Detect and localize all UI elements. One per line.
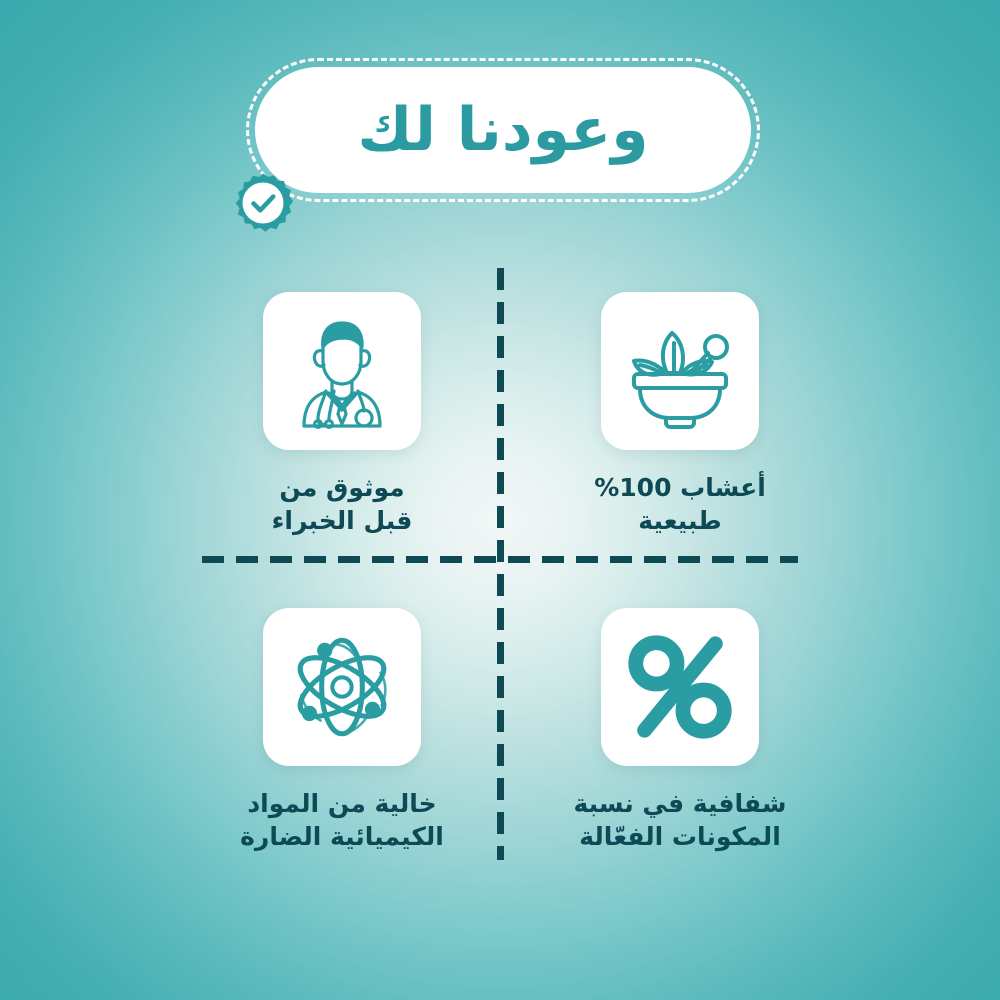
feature-trusted-by-experts: موثوق من قبل الخبراء [222, 292, 462, 537]
feature-natural-herbs: أعشاب 100% طبيعية [560, 292, 800, 537]
feature-label: موثوق من قبل الخبراء [222, 472, 462, 537]
feature-label-line2: قبل الخبراء [222, 505, 462, 538]
mortar-pestle-herbs-icon [620, 311, 740, 431]
percent-icon [621, 628, 739, 746]
feature-active-ingredient-transparency: شفافية في نسبة المكونات الفعّالة [560, 608, 800, 853]
feature-label-line1: خالية من المواد [222, 788, 462, 821]
icon-card [601, 608, 759, 766]
feature-label-line2: الكيميائية الضارة [222, 821, 462, 854]
feature-grid: موثوق من قبل الخبراء [0, 0, 1000, 1000]
feature-label: أعشاب 100% طبيعية [560, 472, 800, 537]
icon-card [263, 608, 421, 766]
feature-label-line1: موثوق من [222, 472, 462, 505]
atom-icon [281, 626, 403, 748]
promise-poster: وعودنا لك [0, 0, 1000, 1000]
feature-label-line1: شفافية في نسبة [560, 788, 800, 821]
feature-label: خالية من المواد الكيميائية الضارة [222, 788, 462, 853]
feature-label-line1: أعشاب 100% [560, 472, 800, 505]
feature-no-harmful-chemicals: خالية من المواد الكيميائية الضارة [222, 608, 462, 853]
icon-card [263, 292, 421, 450]
doctor-icon [282, 311, 402, 431]
icon-card [601, 292, 759, 450]
feature-label-line2: طبيعية [560, 505, 800, 538]
feature-label: شفافية في نسبة المكونات الفعّالة [560, 788, 800, 853]
feature-label-line2: المكونات الفعّالة [560, 821, 800, 854]
